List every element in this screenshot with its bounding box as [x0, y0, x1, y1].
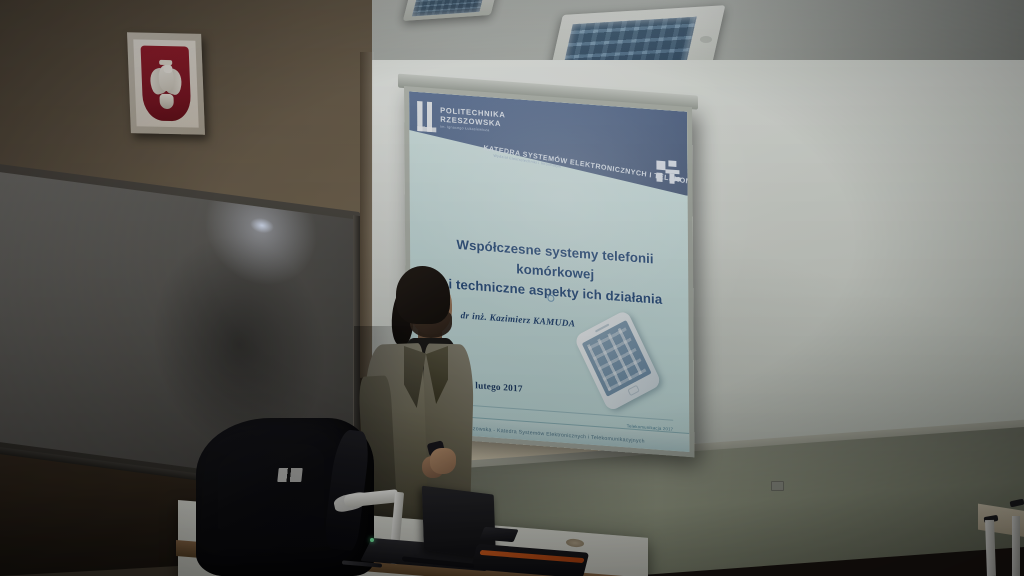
- title-bullet-icon: [547, 295, 554, 303]
- smartphone-on-desk: [479, 527, 518, 542]
- backpack-logo-icon: [277, 468, 302, 482]
- university-logo: POLITECHNIKA RZESZOWSKA im. Ignacego Łuk…: [417, 97, 513, 147]
- power-led-icon: [370, 538, 374, 542]
- emblem-shield-icon: [141, 45, 192, 121]
- presenter-hair: [396, 266, 450, 324]
- eagle-head: [163, 64, 172, 73]
- whiteboard-light-hotspot: [250, 216, 274, 234]
- wall-socket-icon: [771, 481, 784, 491]
- smartphone-illustration: [573, 309, 662, 412]
- side-desk-leg-1: [985, 520, 996, 576]
- department-logo-icon: [655, 159, 681, 185]
- lecture-room-photo: POLITECHNIKA RZESZOWSKA im. Ignacego Łuk…: [0, 0, 1024, 576]
- presenter-hand-right: [430, 448, 456, 474]
- eagle-crown: [159, 60, 172, 65]
- polish-coat-of-arms-frame: [127, 32, 205, 135]
- politechnika-logo-mark-icon: [417, 101, 436, 132]
- eagle-tail: [159, 94, 174, 109]
- emblem-mat: [133, 39, 198, 127]
- side-desk-leg-2: [1012, 516, 1020, 576]
